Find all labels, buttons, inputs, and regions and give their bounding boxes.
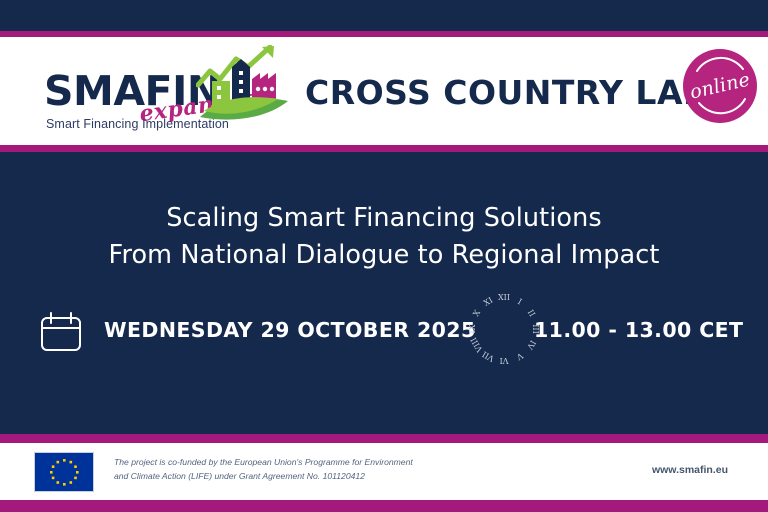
magenta-stripe-footer-top [0,434,768,443]
website-url[interactable]: www.smafin.eu [652,464,728,476]
footer: The project is co-funded by the European… [0,443,768,500]
page-title: CROSS COUNTRY LAB [305,73,709,112]
magenta-stripe-header-bottom [0,145,768,152]
event-subject-line2: From National Dialogue to Regional Impac… [0,237,768,274]
smafin-logo: SMAFIN expanded Smart Financing Implemen… [44,51,284,133]
funding-disclaimer-line1: The project is co-funded by the European… [114,455,534,469]
main-content: Scaling Smart Financing Solutions From N… [0,152,768,434]
eu-flag [34,452,94,492]
svg-text:II: II [526,308,537,318]
svg-text:IX: IX [468,324,477,333]
svg-text:XII: XII [498,293,510,302]
svg-text:XI: XI [482,296,494,308]
event-datetime-row: WEDNESDAY 29 OCTOBER 2025 XII I II III I… [0,310,768,354]
funding-disclaimer: The project is co-funded by the European… [114,455,534,483]
svg-text:X: X [471,308,482,318]
magenta-stripe-bottom [0,500,768,512]
svg-text:VIII: VIII [469,336,485,355]
calendar-icon [40,312,82,352]
event-subject-line1: Scaling Smart Financing Solutions [0,200,768,237]
svg-text:V: V [515,350,526,361]
event-subject: Scaling Smart Financing Solutions From N… [0,200,768,274]
event-time: 11.00 - 13.00 CET [534,318,743,342]
funding-disclaimer-line2: and Climate Action (LIFE) under Grant Ag… [114,469,534,483]
event-poster: SMAFIN expanded Smart Financing Implemen… [0,0,768,512]
event-date: WEDNESDAY 29 OCTOBER 2025 [104,318,476,342]
header: SMAFIN expanded Smart Financing Implemen… [0,37,768,145]
svg-text:VI: VI [500,356,510,365]
svg-text:I: I [516,297,523,306]
top-navy-band [0,0,768,31]
online-badge: online [683,49,757,123]
svg-text:VII: VII [481,349,497,363]
logo-growth-city-icon [196,45,292,123]
